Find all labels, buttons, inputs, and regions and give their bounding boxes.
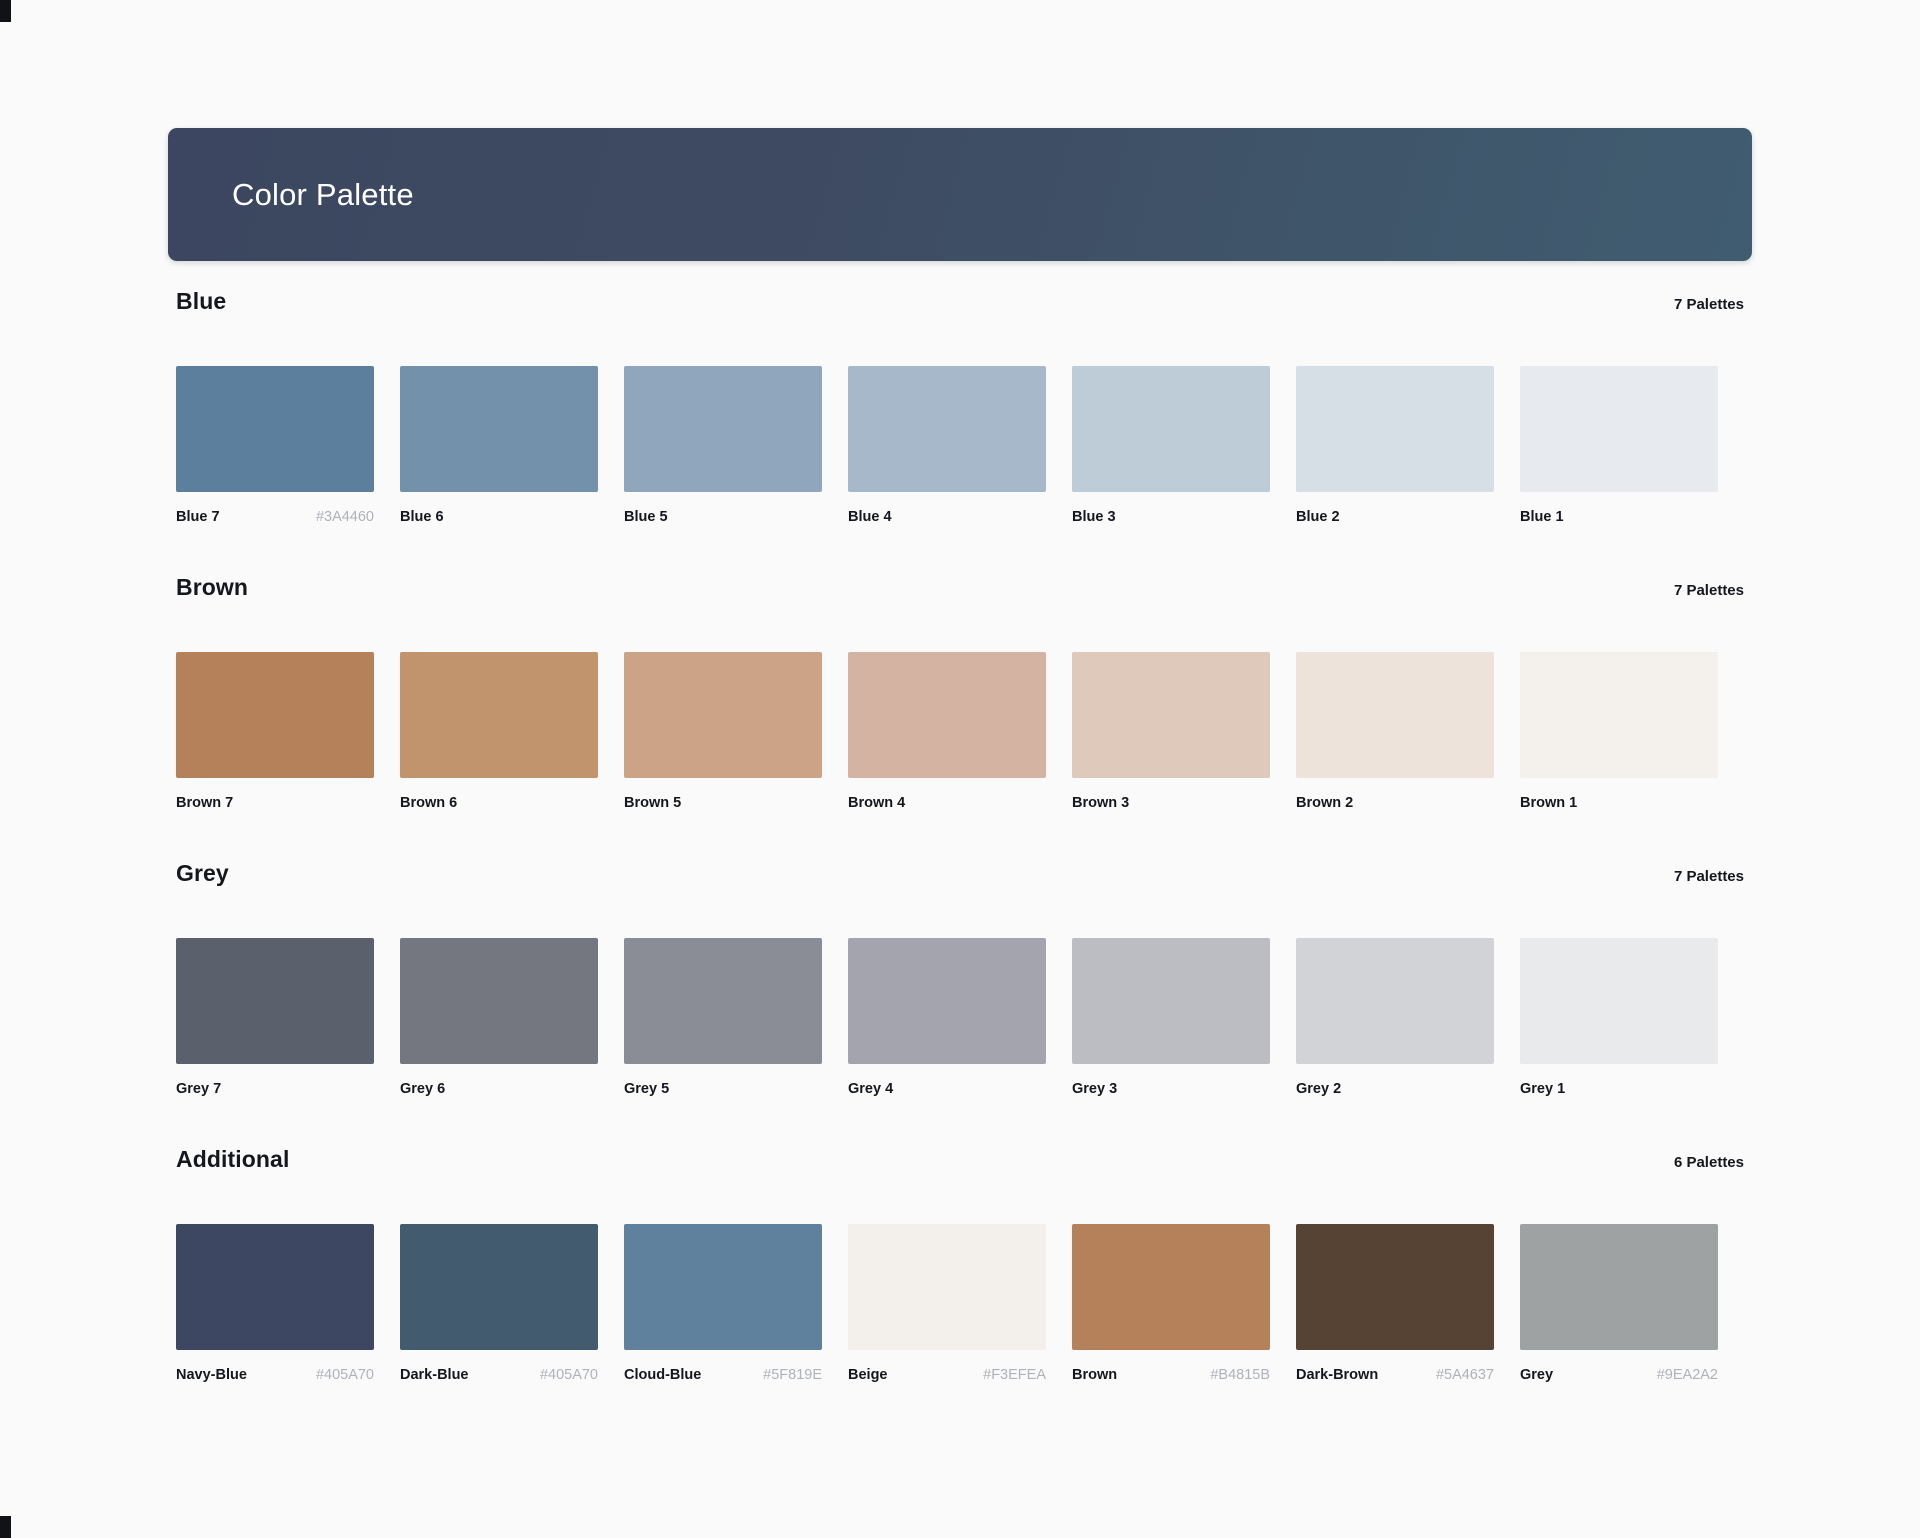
swatch-hex-code: #405A70: [540, 1367, 598, 1383]
swatch-cell[interactable]: Blue 5: [624, 366, 822, 527]
swatch-meta: Grey#9EA2A2: [1520, 1367, 1718, 1385]
swatch-meta: Brown 4: [848, 795, 1046, 813]
swatch-color-chip[interactable]: [624, 1224, 822, 1350]
section-palette-count: 7 Palettes: [1674, 296, 1746, 313]
swatch-meta: Dark-Brown#5A4637: [1296, 1367, 1494, 1385]
section-title: Grey: [176, 860, 229, 887]
swatch-name: Brown 1: [1520, 795, 1577, 811]
swatch-cell[interactable]: Cloud-Blue#5F819E: [624, 1224, 822, 1385]
swatch-meta: Cloud-Blue#5F819E: [624, 1367, 822, 1385]
palette-section-additional: Additional6 PalettesNavy-Blue#405A70Dark…: [176, 1146, 1746, 1385]
section-palette-count: 7 Palettes: [1674, 582, 1746, 599]
swatch-meta: Blue 4: [848, 509, 1046, 527]
swatch-name: Grey 6: [400, 1081, 445, 1097]
swatch-color-chip[interactable]: [1072, 938, 1270, 1064]
swatch-meta: Blue 3: [1072, 509, 1270, 527]
corner-marker-bottom-left: [0, 1516, 11, 1538]
swatch-cell[interactable]: Blue 7#3A4460: [176, 366, 374, 527]
swatch-meta: Navy-Blue#405A70: [176, 1367, 374, 1385]
swatch-hex-code: #3A4460: [316, 509, 374, 525]
swatch-name: Blue 1: [1520, 509, 1564, 525]
swatch-cell[interactable]: Beige#F3EFEA: [848, 1224, 1046, 1385]
swatch-row: Grey 7Grey 6Grey 5Grey 4Grey 3Grey 2Grey…: [176, 938, 1746, 1099]
section-header: Grey7 Palettes: [176, 860, 1746, 902]
swatch-cell[interactable]: Blue 3: [1072, 366, 1270, 527]
swatch-meta: Brown 3: [1072, 795, 1270, 813]
swatch-row: Blue 7#3A4460Blue 6Blue 5Blue 4Blue 3Blu…: [176, 366, 1746, 527]
swatch-color-chip[interactable]: [1072, 1224, 1270, 1350]
swatch-meta: Grey 5: [624, 1081, 822, 1099]
swatch-color-chip[interactable]: [1072, 652, 1270, 778]
swatch-cell[interactable]: Blue 1: [1520, 366, 1718, 527]
swatch-cell[interactable]: Brown 1: [1520, 652, 1718, 813]
swatch-cell[interactable]: Grey 4: [848, 938, 1046, 1099]
swatch-meta: Grey 2: [1296, 1081, 1494, 1099]
swatch-cell[interactable]: Blue 2: [1296, 366, 1494, 527]
section-title: Blue: [176, 288, 226, 315]
swatch-color-chip[interactable]: [1296, 938, 1494, 1064]
swatch-cell[interactable]: Brown#B4815B: [1072, 1224, 1270, 1385]
swatch-cell[interactable]: Brown 6: [400, 652, 598, 813]
swatch-cell[interactable]: Brown 5: [624, 652, 822, 813]
swatch-color-chip[interactable]: [400, 652, 598, 778]
swatch-row: Brown 7Brown 6Brown 5Brown 4Brown 3Brown…: [176, 652, 1746, 813]
swatch-color-chip[interactable]: [1520, 1224, 1718, 1350]
corner-marker-top-left: [0, 0, 11, 22]
section-header: Brown7 Palettes: [176, 574, 1746, 616]
section-header: Blue7 Palettes: [176, 288, 1746, 330]
swatch-name: Blue 7: [176, 509, 220, 525]
swatch-meta: Brown 6: [400, 795, 598, 813]
swatch-cell[interactable]: Grey 1: [1520, 938, 1718, 1099]
swatch-color-chip[interactable]: [624, 652, 822, 778]
swatch-meta: Grey 3: [1072, 1081, 1270, 1099]
swatch-meta: Blue 6: [400, 509, 598, 527]
swatch-color-chip[interactable]: [1296, 366, 1494, 492]
page-banner: Color Palette: [168, 128, 1752, 261]
swatch-name: Cloud-Blue: [624, 1367, 701, 1383]
swatch-name: Brown: [1072, 1367, 1117, 1383]
swatch-hex-code: #5A4637: [1436, 1367, 1494, 1383]
palette-section-grey: Grey7 PalettesGrey 7Grey 6Grey 5Grey 4Gr…: [176, 860, 1746, 1099]
palette-section-brown: Brown7 PalettesBrown 7Brown 6Brown 5Brow…: [176, 574, 1746, 813]
swatch-cell[interactable]: Brown 2: [1296, 652, 1494, 813]
swatch-cell[interactable]: Grey 6: [400, 938, 598, 1099]
page-title: Color Palette: [232, 177, 414, 213]
swatch-color-chip[interactable]: [848, 652, 1046, 778]
swatch-cell[interactable]: Brown 3: [1072, 652, 1270, 813]
swatch-name: Grey 1: [1520, 1081, 1565, 1097]
swatch-cell[interactable]: Brown 7: [176, 652, 374, 813]
swatch-color-chip[interactable]: [1520, 652, 1718, 778]
swatch-name: Dark-Blue: [400, 1367, 469, 1383]
swatch-color-chip[interactable]: [848, 366, 1046, 492]
swatch-color-chip[interactable]: [400, 366, 598, 492]
swatch-cell[interactable]: Dark-Brown#5A4637: [1296, 1224, 1494, 1385]
swatch-color-chip[interactable]: [848, 1224, 1046, 1350]
swatch-name: Brown 2: [1296, 795, 1353, 811]
swatch-hex-code: #B4815B: [1210, 1367, 1270, 1383]
swatch-meta: Grey 4: [848, 1081, 1046, 1099]
swatch-cell[interactable]: Grey 5: [624, 938, 822, 1099]
swatch-name: Grey 4: [848, 1081, 893, 1097]
swatch-meta: Brown 1: [1520, 795, 1718, 813]
swatch-meta: Dark-Blue#405A70: [400, 1367, 598, 1385]
swatch-meta: Blue 7#3A4460: [176, 509, 374, 527]
swatch-name: Brown 7: [176, 795, 233, 811]
swatch-color-chip[interactable]: [400, 938, 598, 1064]
swatch-color-chip[interactable]: [176, 938, 374, 1064]
swatch-hex-code: #F3EFEA: [983, 1367, 1046, 1383]
swatch-color-chip[interactable]: [1520, 366, 1718, 492]
swatch-meta: Brown 5: [624, 795, 822, 813]
swatch-name: Blue 5: [624, 509, 668, 525]
swatch-color-chip[interactable]: [848, 938, 1046, 1064]
swatch-meta: Brown#B4815B: [1072, 1367, 1270, 1385]
swatch-meta: Grey 6: [400, 1081, 598, 1099]
swatch-name: Brown 6: [400, 795, 457, 811]
swatch-name: Beige: [848, 1367, 888, 1383]
swatch-name: Grey 2: [1296, 1081, 1341, 1097]
swatch-name: Grey 3: [1072, 1081, 1117, 1097]
swatch-cell[interactable]: Dark-Blue#405A70: [400, 1224, 598, 1385]
swatch-meta: Grey 7: [176, 1081, 374, 1099]
swatch-meta: Blue 2: [1296, 509, 1494, 527]
color-palette-page: Color Palette Blue7 PalettesBlue 7#3A446…: [0, 0, 1920, 1538]
swatch-cell[interactable]: Grey 3: [1072, 938, 1270, 1099]
swatch-color-chip[interactable]: [624, 366, 822, 492]
section-spacer: [176, 527, 1746, 574]
swatch-cell[interactable]: Grey 2: [1296, 938, 1494, 1099]
swatch-row: Navy-Blue#405A70Dark-Blue#405A70Cloud-Bl…: [176, 1224, 1746, 1385]
swatch-meta: Brown 7: [176, 795, 374, 813]
swatch-name: Brown 5: [624, 795, 681, 811]
swatch-hex-code: #9EA2A2: [1657, 1367, 1718, 1383]
swatch-name: Brown 3: [1072, 795, 1129, 811]
swatch-meta: Grey 1: [1520, 1081, 1718, 1099]
swatch-color-chip[interactable]: [1296, 652, 1494, 778]
swatch-color-chip[interactable]: [1072, 366, 1270, 492]
swatch-name: Brown 4: [848, 795, 905, 811]
swatch-name: Blue 4: [848, 509, 892, 525]
swatch-name: Grey: [1520, 1367, 1553, 1383]
swatch-color-chip[interactable]: [400, 1224, 598, 1350]
section-spacer: [176, 813, 1746, 860]
swatch-color-chip[interactable]: [176, 652, 374, 778]
swatch-cell[interactable]: Brown 4: [848, 652, 1046, 813]
swatch-hex-code: #405A70: [316, 1367, 374, 1383]
section-palette-count: 7 Palettes: [1674, 868, 1746, 885]
swatch-name: Blue 3: [1072, 509, 1116, 525]
swatch-color-chip[interactable]: [176, 366, 374, 492]
swatch-name: Blue 2: [1296, 509, 1340, 525]
section-palette-count: 6 Palettes: [1674, 1154, 1746, 1171]
swatch-color-chip[interactable]: [624, 938, 822, 1064]
swatch-cell[interactable]: Grey#9EA2A2: [1520, 1224, 1718, 1385]
swatch-cell[interactable]: Blue 4: [848, 366, 1046, 527]
swatch-color-chip[interactable]: [1296, 1224, 1494, 1350]
palette-section-blue: Blue7 PalettesBlue 7#3A4460Blue 6Blue 5B…: [176, 288, 1746, 527]
swatch-name: Dark-Brown: [1296, 1367, 1378, 1383]
swatch-name: Grey 5: [624, 1081, 669, 1097]
swatch-name: Blue 6: [400, 509, 444, 525]
swatch-cell[interactable]: Grey 7: [176, 938, 374, 1099]
swatch-cell[interactable]: Blue 6: [400, 366, 598, 527]
section-title: Additional: [176, 1146, 289, 1173]
swatch-color-chip[interactable]: [176, 1224, 374, 1350]
swatch-name: Navy-Blue: [176, 1367, 247, 1383]
swatch-hex-code: #5F819E: [763, 1367, 822, 1383]
section-header: Additional6 Palettes: [176, 1146, 1746, 1188]
swatch-name: Grey 7: [176, 1081, 221, 1097]
swatch-cell[interactable]: Navy-Blue#405A70: [176, 1224, 374, 1385]
section-title: Brown: [176, 574, 248, 601]
swatch-meta: Blue 5: [624, 509, 822, 527]
swatch-meta: Beige#F3EFEA: [848, 1367, 1046, 1385]
palette-sections: Blue7 PalettesBlue 7#3A4460Blue 6Blue 5B…: [176, 288, 1746, 1385]
swatch-color-chip[interactable]: [1520, 938, 1718, 1064]
swatch-meta: Blue 1: [1520, 509, 1718, 527]
section-spacer: [176, 1099, 1746, 1146]
swatch-meta: Brown 2: [1296, 795, 1494, 813]
